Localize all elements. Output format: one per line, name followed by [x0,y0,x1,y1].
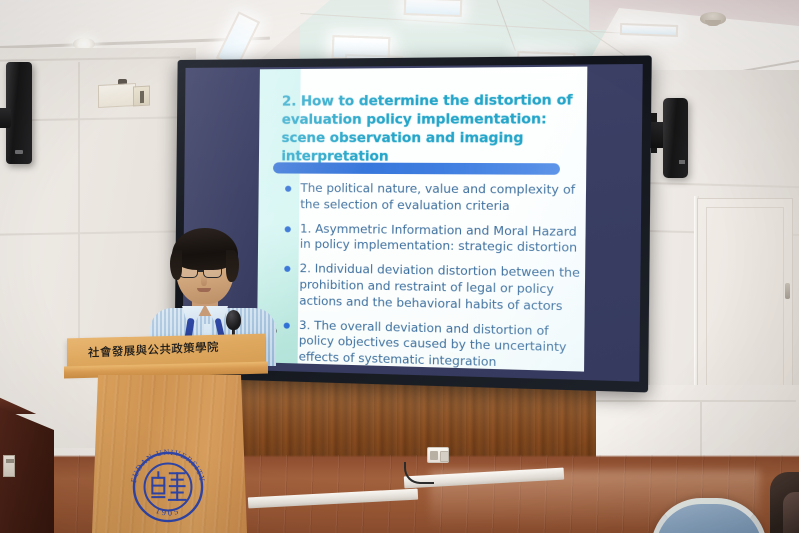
wall-av-control-panel[interactable] [98,83,136,108]
bullet-dot-icon [284,322,290,328]
speaker-logo [679,160,685,164]
list-item: 3. The overall deviation and distortion … [281,317,580,372]
fudan-logo-svg: FUDAN UNIVERSITY 1905 [122,441,214,533]
speaker-logo [15,150,23,154]
room-door[interactable] [697,198,793,398]
presenter-hair-side-right [226,250,239,282]
wall-seam [596,400,796,402]
bullet-dot-icon [285,186,291,192]
list-item: 2. Individual deviation distortion betwe… [282,261,581,315]
door-handle[interactable] [785,283,790,299]
chair-right-dark-back[interactable] [783,492,799,533]
microphone-icon [226,310,241,330]
slide-title-underline-bar [273,162,560,174]
bullet-text: 1. Asymmetric Information and Moral Haza… [300,221,577,255]
slide-title: 2. How to determine the distortion of ev… [281,92,580,168]
power-outlet[interactable] [427,447,449,463]
list-item: The political nature, value and complexi… [283,181,582,216]
side-desk-control-panel[interactable] [3,455,15,477]
bullet-text: 3. The overall deviation and distortion … [299,317,567,369]
wall-av-switch-panel[interactable] [133,86,150,107]
fudan-university-logo: FUDAN UNIVERSITY 1905 [122,441,214,533]
bullet-dot-icon [284,266,290,272]
svg-text:1905: 1905 [154,505,181,518]
smoke-detector-icon [700,12,726,25]
ceiling-panel-light [404,0,463,17]
lecture-hall-photo: 2. How to determine the distortion of ev… [0,0,799,533]
bullet-text: 2. Individual deviation distortion betwe… [299,261,580,313]
wall-seam [78,62,80,352]
list-item: 1. Asymmetric Information and Moral Haza… [282,221,581,257]
glasses-bridge [198,270,203,272]
presenter-mouth [197,288,211,292]
svg-text:FUDAN UNIVERSITY: FUDAN UNIVERSITY [129,448,207,484]
presenter-hair-side-left [170,250,182,280]
wall-speaker-right [663,98,688,178]
bullet-text: The political nature, value and complexi… [300,181,575,213]
ceiling-panel-light [620,23,678,37]
presentation-slide: 2. How to determine the distortion of ev… [257,67,588,372]
slide-bullet-list: The political nature, value and complexi… [281,181,582,372]
speaker-mount-left [0,108,11,128]
door-panel [706,207,784,389]
bullet-dot-icon [285,226,291,232]
